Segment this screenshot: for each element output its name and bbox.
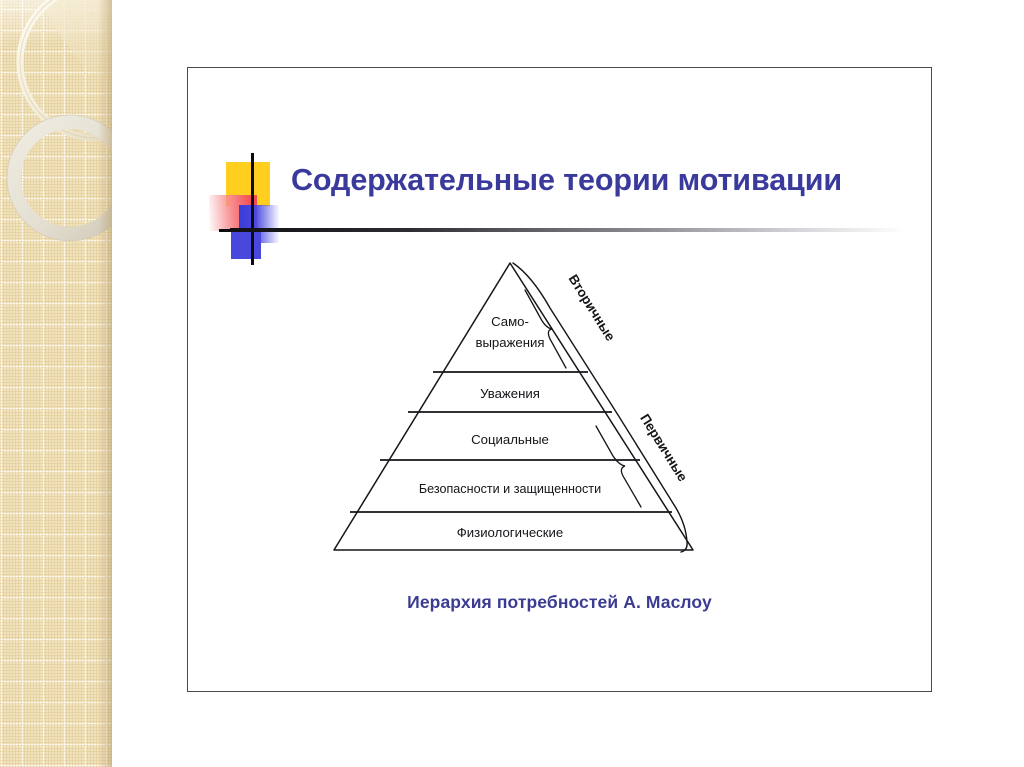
- pyramid-level-5-label: Физиологические: [457, 525, 563, 540]
- pyramid-level-3-label: Социальные: [471, 432, 549, 447]
- pyramid-level-4-label: Безопасности и защищенности: [419, 482, 601, 496]
- sidebar-weave-texture: [0, 0, 112, 767]
- sidebar-edge-shade: [98, 0, 112, 767]
- slide-title: Содержательные теории мотивации: [291, 165, 931, 196]
- slide-title-block: Содержательные теории мотивации: [187, 150, 932, 265]
- maslow-pyramid-diagram: Само- выражения Уважения Социальные Безо…: [300, 250, 750, 570]
- presentation-slide: Содержательные теории мотивации Само- вы…: [0, 0, 1024, 767]
- sidebar-top-veil: [0, 0, 112, 46]
- pyramid-level-2-label: Уважения: [480, 386, 540, 401]
- logo-vertical-line-icon: [251, 153, 254, 265]
- pyramid-level-1-label-line2: выражения: [475, 335, 544, 350]
- secondary-needs-label: Вторичные: [566, 272, 619, 344]
- primary-needs-label: Первичные: [637, 411, 690, 484]
- pyramid-level-1-label-line1: Само-: [491, 314, 529, 329]
- pyramid-outline: [334, 263, 693, 550]
- logo-blue-square-lower-icon: [231, 231, 261, 259]
- design-accent-logo-icon: [209, 153, 287, 265]
- title-underline-rule: [230, 228, 906, 232]
- diagram-caption: Иерархия потребностей А. Маслоу: [187, 592, 932, 613]
- decorative-sidebar: [0, 0, 112, 767]
